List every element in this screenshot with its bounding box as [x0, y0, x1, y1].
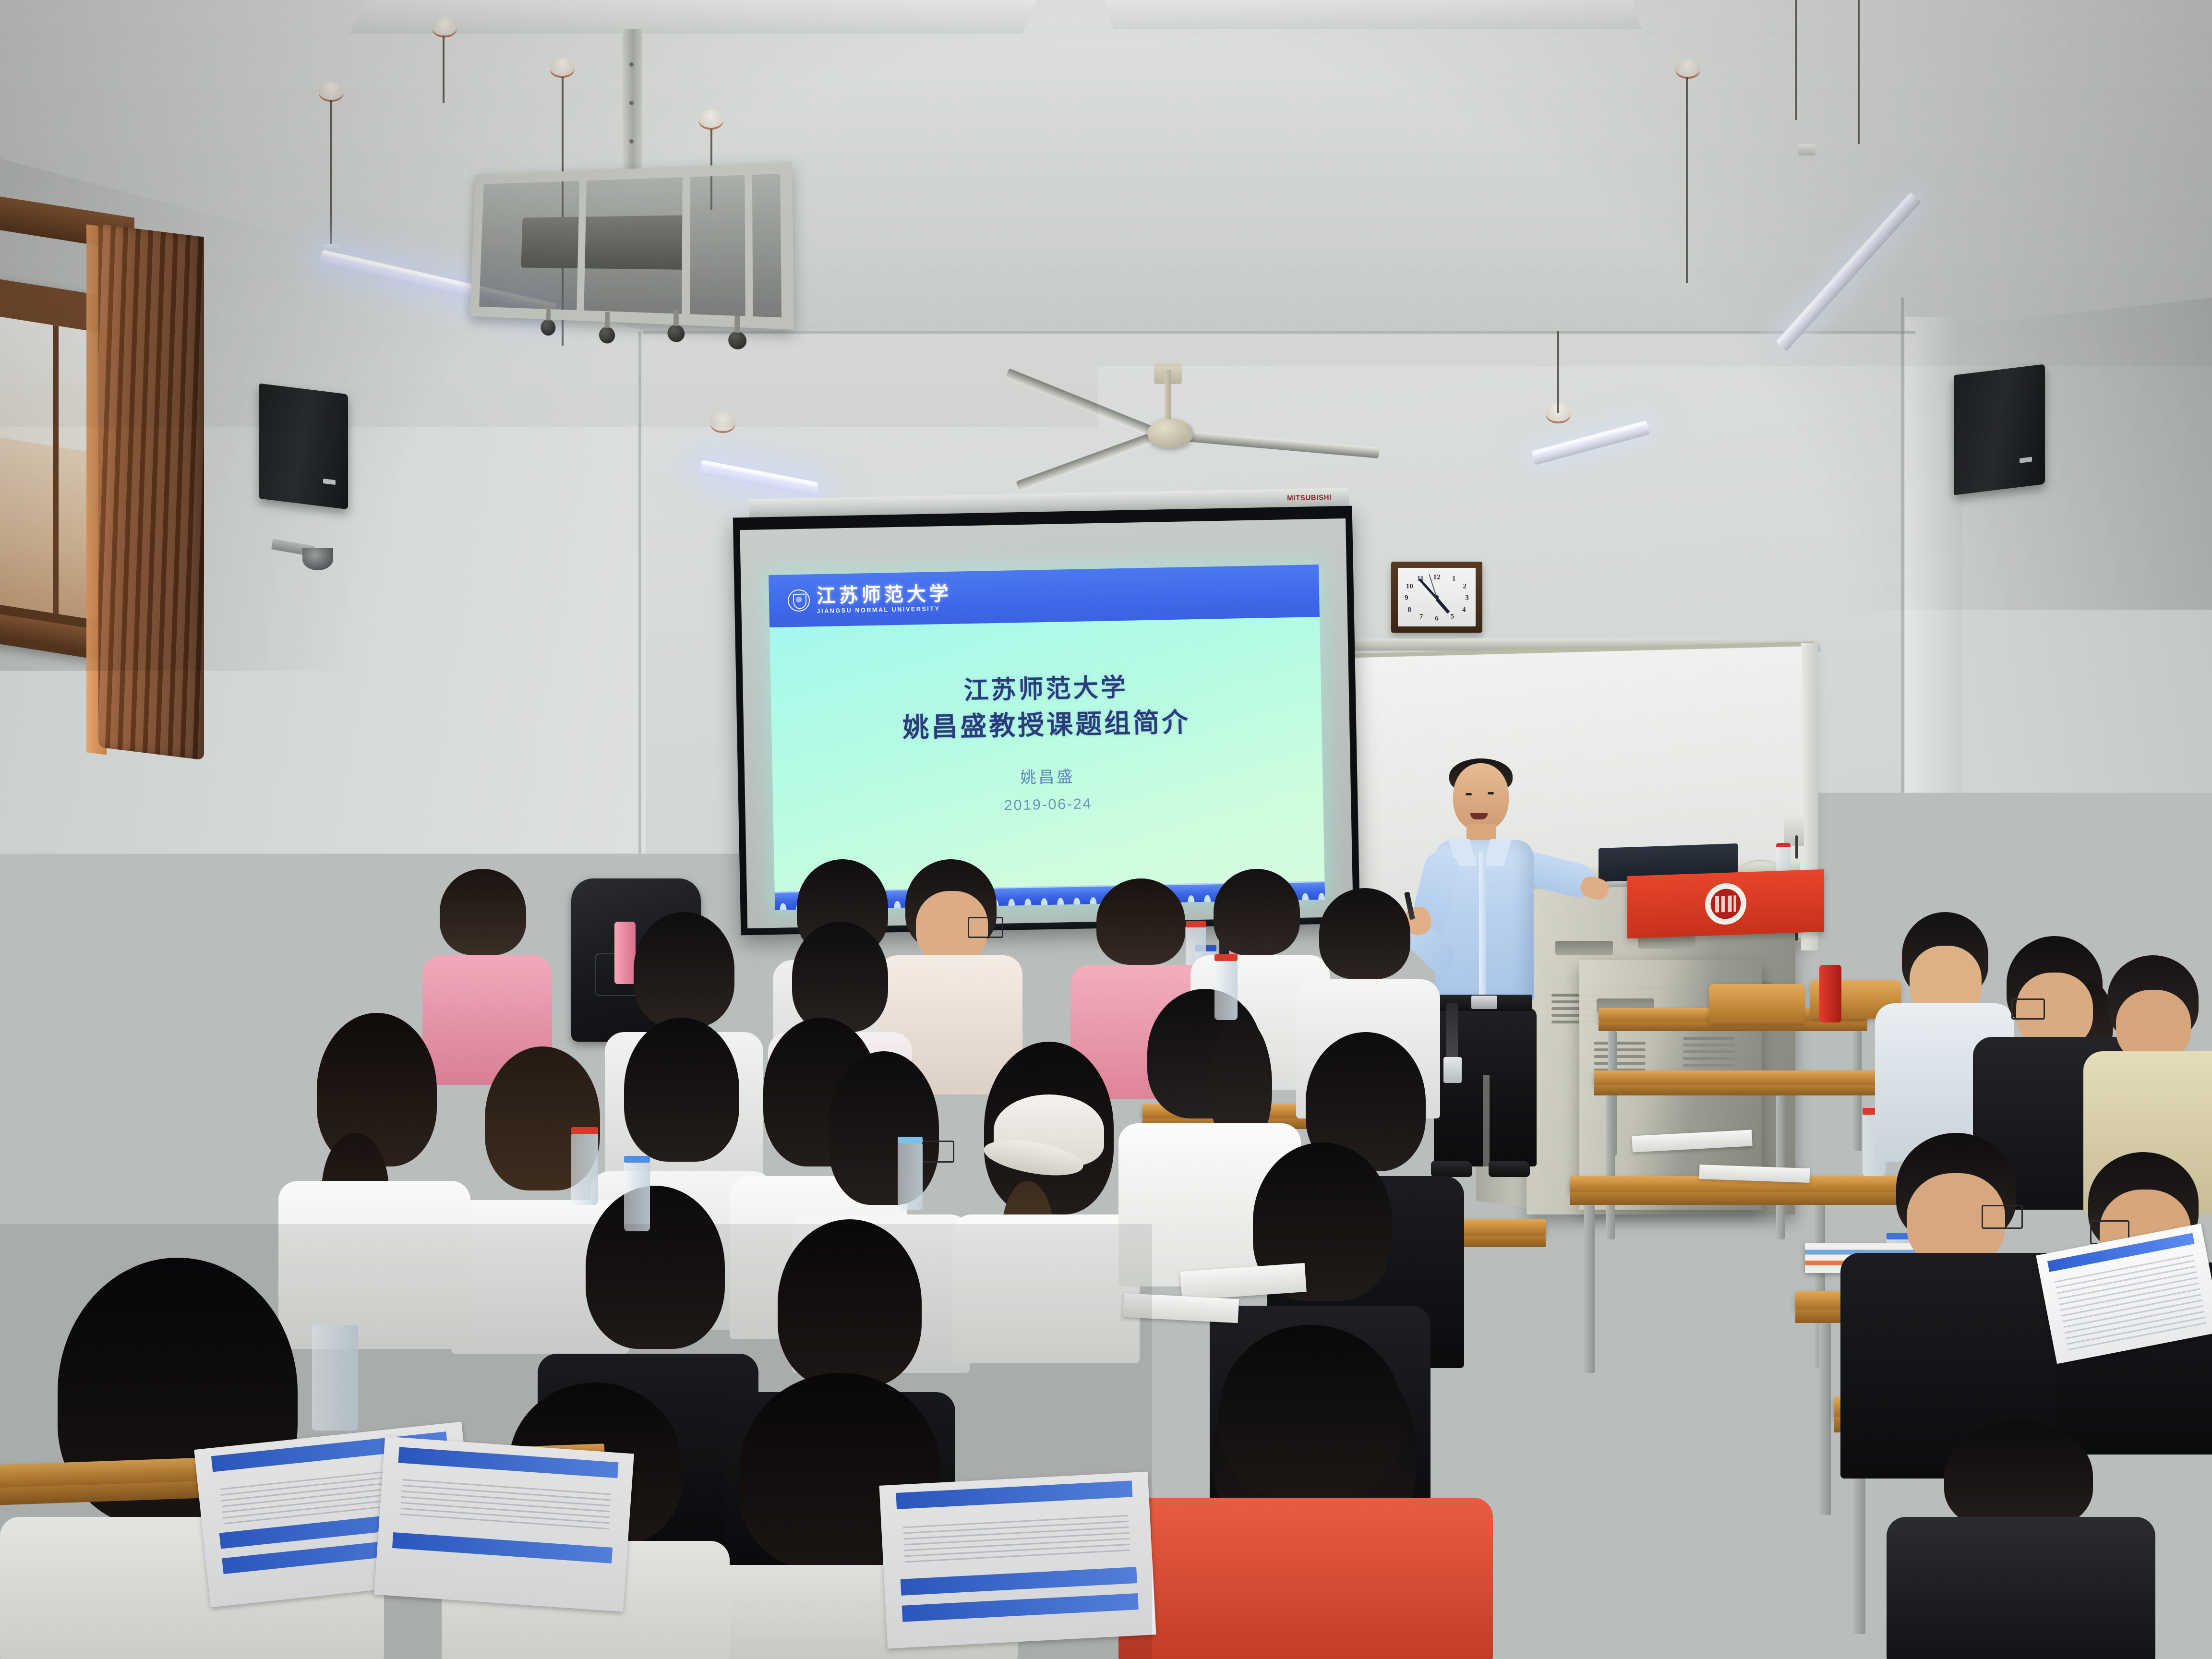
dome-security-camera [302, 548, 333, 570]
university-crest-icon [1705, 882, 1746, 925]
university-logo-icon [788, 589, 810, 612]
ceiling-rose [550, 58, 575, 78]
bottle-cap [1214, 954, 1238, 961]
ceiling-beam [1104, 0, 1641, 29]
university-name-en: JIANGSU NORMAL UNIVERSITY [817, 605, 952, 614]
projected-slide: 江苏师范大学 JIANGSU NORMAL UNIVERSITY 江苏师范大学 … [769, 565, 1325, 910]
student-hair [440, 869, 526, 955]
booklet-band [896, 1480, 1133, 1509]
presenter-eye [1466, 793, 1472, 795]
slide-body: 江苏师范大学 姚昌盛教授课题组简介 姚昌盛 2019-06-24 [769, 617, 1324, 891]
clock-numeral: 3 [1465, 594, 1469, 602]
eyeglasses [2011, 998, 2045, 1020]
ceiling-projector-cage [470, 162, 794, 330]
ceiling-rose [698, 109, 723, 130]
hanging-wire [330, 100, 332, 249]
booklet-band [392, 1532, 613, 1563]
clock-numeral: 6 [1435, 615, 1439, 623]
wall-clock: 12 1 2 3 4 5 6 7 8 9 10 11 [1391, 562, 1482, 633]
clock-numeral: 7 [1419, 613, 1423, 621]
student-hair [792, 922, 888, 1032]
booklet-text-lines [903, 1515, 1130, 1563]
student-desk [1594, 1070, 1901, 1085]
booklet-text-lines [399, 1479, 611, 1531]
clock-numeral: 10 [1406, 583, 1413, 591]
student-shirt [952, 1214, 1140, 1363]
light-bracket [1798, 144, 1815, 156]
water-bottle[interactable] [624, 1162, 650, 1231]
student [1853, 1133, 2055, 1469]
student-head [14, 965, 91, 1040]
ceiling-rose [1675, 59, 1700, 79]
student-hair [778, 1219, 922, 1387]
hanging-wire [1795, 0, 1797, 120]
bottle-cap [624, 1156, 650, 1163]
student-hair [634, 912, 734, 1027]
cabinet-vent [1594, 1042, 1646, 1045]
ceiling-rose [432, 17, 457, 37]
student-hair [1319, 888, 1410, 979]
presenter-head [1453, 763, 1509, 830]
cage-bar [745, 175, 753, 316]
student-hair [1214, 869, 1300, 955]
slide-author: 姚昌盛 [1020, 764, 1075, 788]
water-bottle[interactable] [898, 1142, 923, 1210]
university-name-cn: 江苏师范大学 [817, 584, 952, 605]
booklet-band [900, 1567, 1137, 1596]
water-jug[interactable] [312, 1325, 358, 1431]
water-bottle[interactable] [571, 1133, 598, 1205]
chair[interactable] [1709, 984, 1805, 1023]
clock-numeral: 12 [1433, 573, 1441, 581]
student-hair [197, 926, 283, 1018]
hanging-wire [1557, 331, 1559, 413]
student-hair [1096, 878, 1185, 965]
speaker-badge [323, 479, 336, 485]
clock-center-pin [1435, 595, 1439, 599]
clock-numeral: 9 [1405, 594, 1408, 602]
clock-numeral: 2 [1463, 583, 1467, 591]
hanging-wire [1858, 0, 1860, 144]
clock-numeral: 4 [1462, 606, 1466, 614]
student-hair [624, 1018, 739, 1162]
slide-title-line1: 江苏师范大学 [902, 670, 1190, 709]
student-shirt [0, 1037, 139, 1200]
clock-numeral: 1 [1452, 575, 1456, 583]
ceiling-rose [710, 413, 735, 433]
presenter-eye [1488, 792, 1494, 794]
cabinet-vent [1683, 1037, 1735, 1040]
slide-title: 江苏师范大学 姚昌盛教授课题组简介 [902, 670, 1191, 746]
student-hair [1944, 1421, 2093, 1531]
bottle-cap [898, 1137, 923, 1143]
classroom-photo-scene: 12 1 2 3 4 5 6 7 8 9 10 11 心理 MITSUBISHI [0, 0, 2212, 1659]
student [1118, 1421, 1493, 1659]
eyeglasses [968, 917, 1003, 938]
projector-mount-pole [622, 29, 642, 173]
trouser-gap [1483, 1075, 1490, 1166]
slide-title-line2: 姚昌盛教授课题组简介 [902, 704, 1190, 746]
presenter-shoe [1489, 1161, 1530, 1177]
speaker-badge [2020, 457, 2032, 463]
wall-speaker [1954, 364, 2045, 495]
eyeglasses [918, 1141, 954, 1163]
screen-brand-label: MITSUBISHI [1287, 493, 1332, 503]
student-hair [336, 883, 422, 970]
slide-date: 2019-06-24 [1004, 795, 1092, 815]
clock-numeral: 8 [1408, 606, 1412, 614]
fan-rod [1165, 370, 1171, 422]
desk-edge [1594, 1085, 1901, 1095]
window-mullion [53, 325, 59, 614]
window-curtain[interactable] [98, 224, 204, 760]
shirt-placket [1479, 852, 1486, 996]
wall-speaker [259, 384, 348, 510]
clock-face: 12 1 2 3 4 5 6 7 8 9 10 11 [1398, 568, 1476, 626]
thermos-flask[interactable] [1819, 965, 1841, 1022]
student [1887, 1421, 2146, 1659]
belt-buckle [1471, 996, 1497, 1009]
student-hair [1219, 1325, 1402, 1498]
desk-leg [1819, 1323, 1831, 1515]
wall-junction-box [1784, 816, 1804, 846]
student [0, 931, 134, 1200]
desk-leg [1584, 1205, 1595, 1373]
ceiling-rose [319, 82, 344, 102]
water-bottle[interactable] [1214, 960, 1238, 1020]
desk-leg [1606, 1095, 1615, 1239]
booklet-band [902, 1593, 1139, 1622]
student-hair [586, 1186, 725, 1349]
eyeglasses [1982, 1205, 2023, 1229]
student [960, 1022, 1133, 1358]
student-shirt [1887, 1517, 2155, 1659]
clock-numeral: 5 [1451, 613, 1455, 621]
bottle-cap [571, 1127, 598, 1134]
hanging-chain [443, 36, 445, 103]
booklet[interactable] [374, 1436, 634, 1611]
hanging-wire [1686, 77, 1688, 283]
fan-hub [1147, 419, 1193, 448]
wall-ceiling-seam [643, 331, 1915, 334]
student-hair [317, 1013, 437, 1166]
cage-bar [682, 177, 690, 314]
student-shirt [1118, 1498, 1493, 1659]
booklet-text-lines [2055, 1254, 2207, 1351]
podium-banner [1627, 869, 1824, 938]
booklet-band [398, 1447, 619, 1478]
clock-hour-hand [1435, 598, 1450, 613]
booklet[interactable] [879, 1472, 1156, 1649]
